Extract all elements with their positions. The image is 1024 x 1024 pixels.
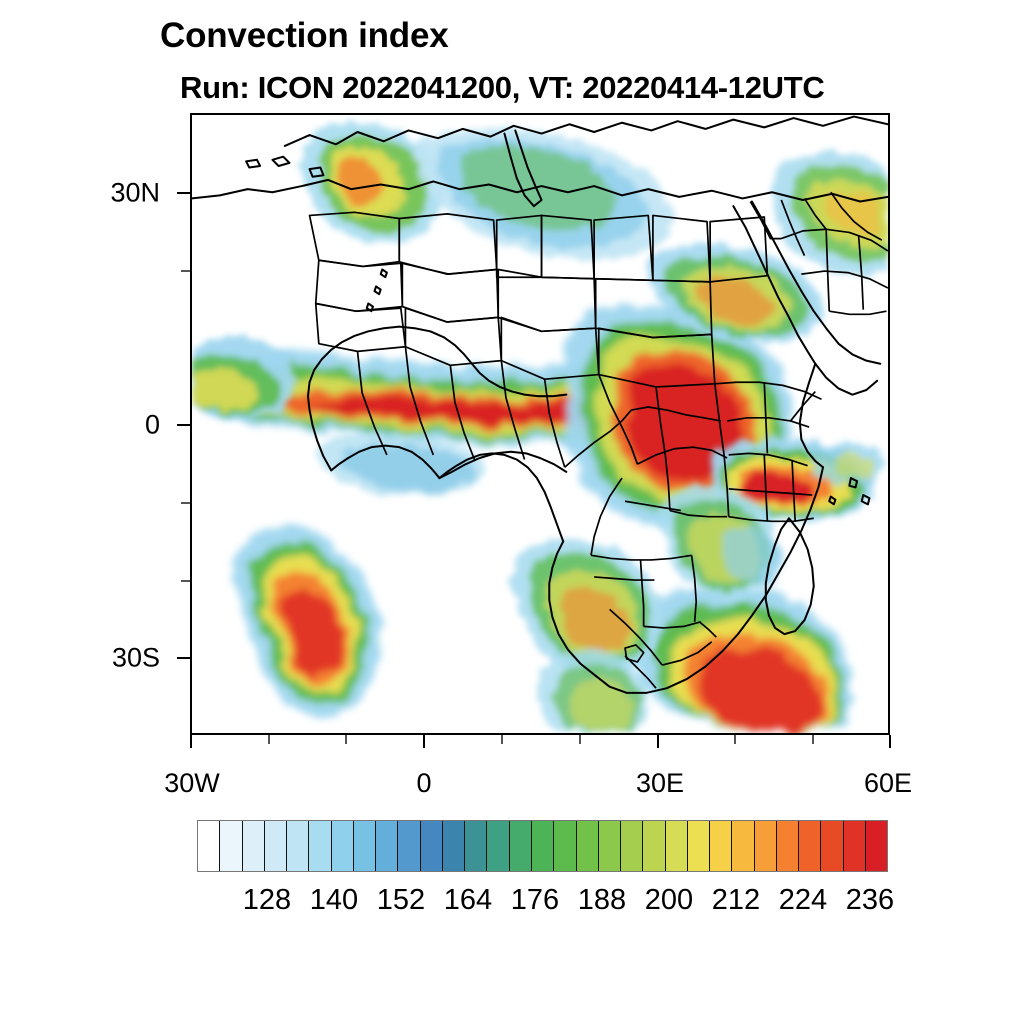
ytick-label-0: 0: [50, 410, 160, 441]
colorbar-cell-17: [577, 821, 599, 871]
xtick-major-0: [423, 735, 425, 748]
colorbar-cell-7: [354, 821, 376, 871]
colorbar-cell-27: [799, 821, 821, 871]
xtick-label-60e: 60E: [818, 768, 958, 799]
xtick-major-60e: [889, 735, 891, 748]
colorbar-cell-2: [243, 821, 265, 871]
colorbar-cell-11: [443, 821, 465, 871]
colorbar-cell-12: [465, 821, 487, 871]
ytick-minor-15s: [181, 502, 190, 504]
ytick-major-30s: [177, 657, 190, 659]
ytick-minor-15n: [181, 270, 190, 272]
colorbar-cell-20: [643, 821, 665, 871]
convection-index-heatmap: [192, 115, 888, 733]
colorbar-cell-4: [287, 821, 309, 871]
ytick-label-30s: 30S: [50, 643, 160, 674]
colorbar-cell-5: [309, 821, 331, 871]
colorbar-cell-23: [710, 821, 732, 871]
colorbar-cell-30: [866, 821, 887, 871]
colorbar-cell-26: [777, 821, 799, 871]
ytick-label-30n: 30N: [50, 178, 160, 209]
colorbar-cell-25: [755, 821, 777, 871]
xtick-minor-10e: [501, 735, 503, 744]
colorbar-cell-15: [532, 821, 554, 871]
xtick-label-30w: 30W: [122, 768, 262, 799]
colorbar-cell-8: [376, 821, 398, 871]
xtick-minor-50e: [812, 735, 814, 744]
page-subtitle: Run: ICON 2022041200, VT: 20220414-12UTC: [180, 70, 825, 106]
xtick-label-0: 0: [354, 768, 494, 799]
colorbar-cell-10: [421, 821, 443, 871]
xtick-minor-40e: [734, 735, 736, 744]
colorbar-cell-13: [487, 821, 509, 871]
page-title: Convection index: [160, 16, 449, 56]
colorbar-cell-6: [332, 821, 354, 871]
colorbar-cell-14: [510, 821, 532, 871]
xtick-minor-20e: [579, 735, 581, 744]
colorbar: [197, 820, 888, 872]
ytick-minor-22s: [181, 580, 190, 582]
colorbar-cell-18: [599, 821, 621, 871]
ytick-major-30n: [177, 192, 190, 194]
colorbar-cell-24: [732, 821, 754, 871]
xtick-label-30e: 30E: [590, 768, 730, 799]
colorbar-cell-3: [265, 821, 287, 871]
xtick-minor-10w: [345, 735, 347, 744]
colorbar-cell-1: [220, 821, 242, 871]
colorbar-label-236: 236: [810, 884, 930, 917]
colorbar-cell-22: [688, 821, 710, 871]
colorbar-cell-29: [844, 821, 866, 871]
xtick-major-30w: [190, 735, 192, 748]
map-plot-area: [190, 113, 890, 735]
colorbar-cell-19: [621, 821, 643, 871]
colorbar-cell-0: [198, 821, 220, 871]
colorbar-cell-9: [398, 821, 420, 871]
colorbar-cell-16: [554, 821, 576, 871]
xtick-major-30e: [657, 735, 659, 748]
xtick-minor-20w: [268, 735, 270, 744]
colorbar-cell-21: [666, 821, 688, 871]
ytick-major-0: [177, 424, 190, 426]
colorbar-cell-28: [821, 821, 843, 871]
